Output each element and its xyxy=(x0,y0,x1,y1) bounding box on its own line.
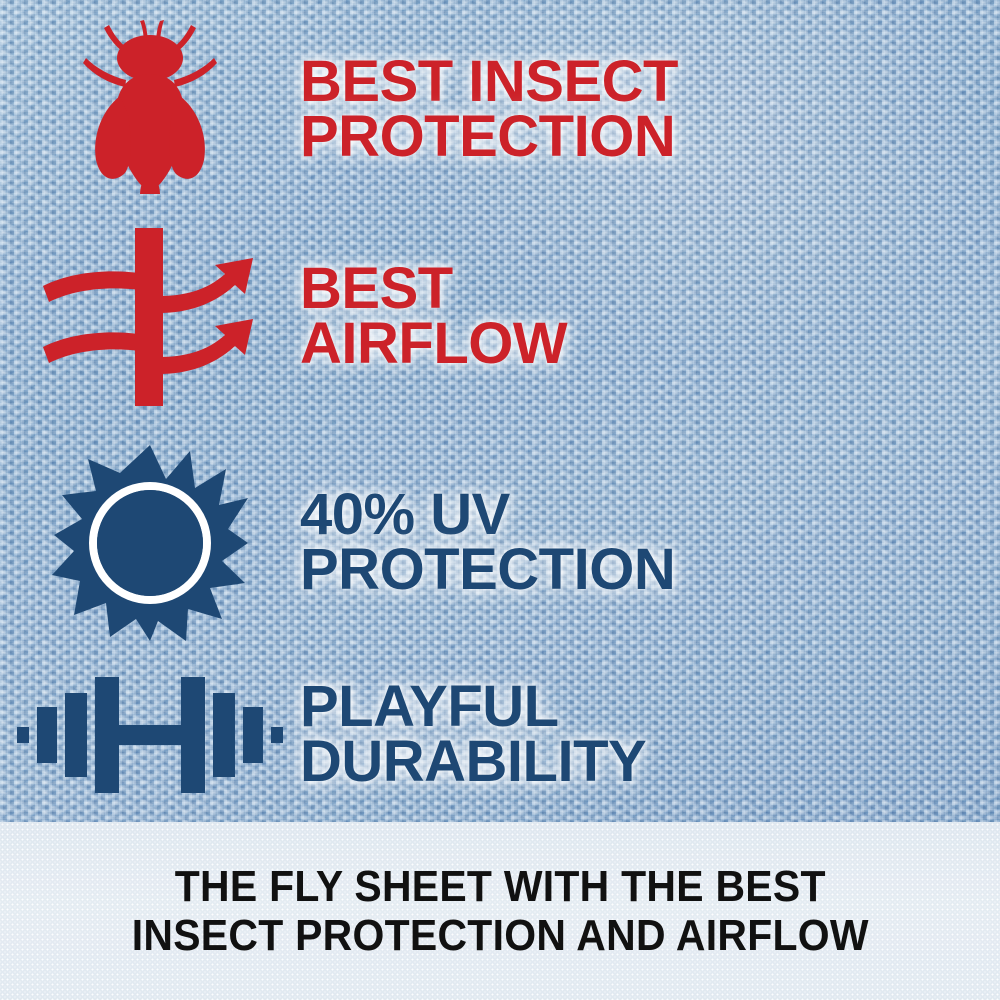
feature-text-cell: 40% UV PROTECTION xyxy=(300,488,1000,597)
feature-icon-cell xyxy=(0,18,300,203)
feature-text-cell: BEST AIRFLOW xyxy=(300,262,1000,371)
feature-row-insect-protection: BEST INSECT PROTECTION xyxy=(0,10,1000,210)
feature-label-airflow: BEST AIRFLOW xyxy=(300,262,1000,371)
feature-icon-cell xyxy=(0,443,300,643)
sun-uv-icon xyxy=(50,443,250,643)
feature-label-insect-protection: BEST INSECT PROTECTION xyxy=(300,55,1000,164)
feature-row-airflow: BEST AIRFLOW xyxy=(0,222,1000,412)
feature-label-uv-protection: 40% UV PROTECTION xyxy=(300,488,1000,597)
feature-label-durability: PLAYFUL DURABILITY xyxy=(300,680,1000,789)
airflow-icon xyxy=(35,222,265,412)
feature-text-cell: BEST INSECT PROTECTION xyxy=(300,55,1000,164)
dumbbell-icon xyxy=(15,665,285,805)
feature-icon-cell xyxy=(0,665,300,805)
fly-icon xyxy=(70,18,230,203)
caption-headline: THE FLY SHEET WITH THE BEST INSECT PROTE… xyxy=(113,862,887,961)
feature-row-uv-protection: 40% UV PROTECTION xyxy=(0,440,1000,645)
product-feature-poster: BEST INSECT PROTECTION xyxy=(0,0,1000,1000)
caption-band: THE FLY SHEET WITH THE BEST INSECT PROTE… xyxy=(0,822,1000,1000)
feature-text-cell: PLAYFUL DURABILITY xyxy=(300,680,1000,789)
feature-icon-cell xyxy=(0,222,300,412)
feature-row-durability: PLAYFUL DURABILITY xyxy=(0,655,1000,815)
